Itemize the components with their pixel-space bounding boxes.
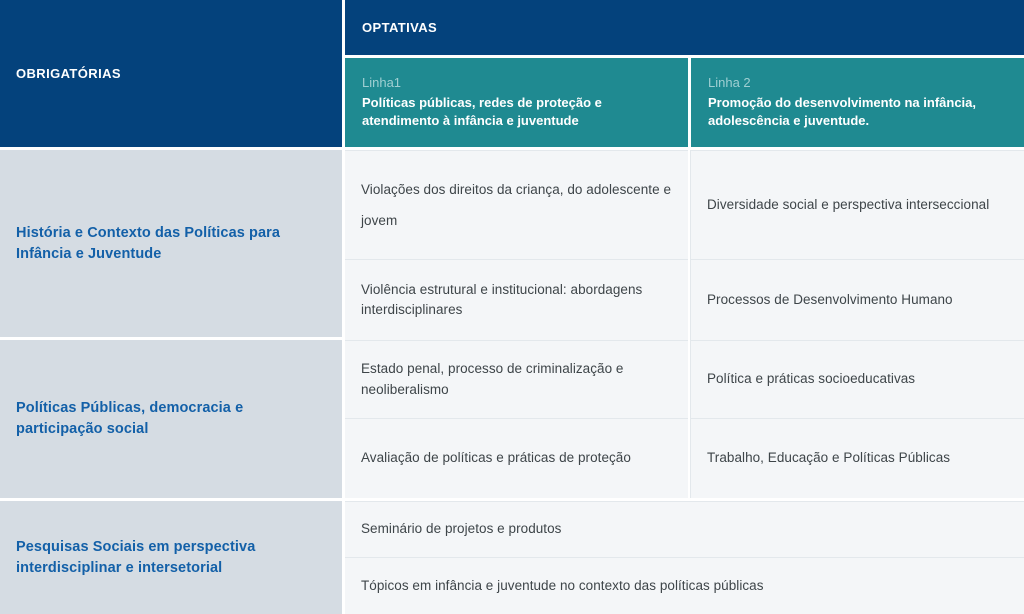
mandatory-row-cell-1: Políticas Públicas, democracia e partici… [0,340,342,498]
linha2-course-label-0: Diversidade social e perspectiva interse… [707,195,989,215]
spanning-course-label-1: Tópicos em infância e juventude no conte… [361,576,764,596]
linha2-course-cell-2: Política e práticas socioeducativas [691,340,1024,418]
line-header-linha1-title: Políticas públicas, redes de proteção e … [362,94,670,132]
linha1-course-cell-2: Estado penal, processo de criminalização… [345,340,688,418]
line-header-linha2-name: Linha 2 [708,74,1006,93]
spanning-course-label-0: Seminário de projetos e produtos [361,519,561,539]
line-header-linha1-name: Linha1 [362,74,670,93]
mandatory-column-header-label: OBRIGATÓRIAS [0,66,121,81]
mandatory-row-divider-1 [0,337,342,340]
elective-column-divider [690,150,691,498]
linha2-course-label-3: Trabalho, Educação e Políticas Públicas [707,448,950,468]
mandatory-column-header: OBRIGATÓRIAS [0,0,342,147]
mandatory-row-label-1: Políticas Públicas, democracia e partici… [16,398,312,439]
linha1-course-cell-0: Violações dos direitos da criança, do ad… [345,150,688,259]
line-header-linha1: Linha1 Políticas públicas, redes de prot… [345,58,688,147]
line-header-linha2-title: Promoção do desenvolvimento na infância,… [708,94,1006,132]
spanning-course-cell-0: Seminário de projetos e produtos [345,501,1024,557]
curriculum-matrix-table: OBRIGATÓRIAS História e Contexto das Pol… [0,0,1024,614]
linha1-course-label-1: Violência estrutural e institucional: ab… [361,280,674,321]
linha1-course-label-0: Violações dos direitos da criança, do ad… [361,174,674,236]
spanning-course-cell-1: Tópicos em infância e juventude no conte… [345,557,1024,614]
elective-column-header: OPTATIVAS [345,0,1024,55]
linha2-course-cell-3: Trabalho, Educação e Políticas Públicas [691,418,1024,498]
mandatory-row-divider-0 [0,147,342,150]
mandatory-row-divider-2 [0,498,342,501]
mandatory-row-cell-2: Pesquisas Sociais em perspectiva interdi… [0,501,342,614]
mandatory-column: OBRIGATÓRIAS História e Contexto das Pol… [0,0,342,614]
linha1-course-cell-3: Avaliação de políticas e práticas de pro… [345,418,688,498]
linha2-course-cell-1: Processos de Desenvolvimento Humano [691,259,1024,340]
line-header-linha2: Linha 2 Promoção do desenvolvimento na i… [691,58,1024,147]
mandatory-row-label-2: Pesquisas Sociais em perspectiva interdi… [16,537,312,578]
mandatory-row-cell-0: História e Contexto das Políticas para I… [0,150,342,337]
linha2-course-cell-0: Diversidade social e perspectiva interse… [691,150,1024,259]
elective-column-header-label: OPTATIVAS [345,20,437,35]
linha1-course-label-3: Avaliação de políticas e práticas de pro… [361,448,631,468]
linha2-course-label-2: Política e práticas socioeducativas [707,369,915,389]
mandatory-row-label-0: História e Contexto das Políticas para I… [16,223,312,264]
linha2-course-label-1: Processos de Desenvolvimento Humano [707,290,953,310]
linha1-course-cell-1: Violência estrutural e institucional: ab… [345,259,688,340]
linha1-course-label-2: Estado penal, processo de criminalização… [361,359,674,400]
